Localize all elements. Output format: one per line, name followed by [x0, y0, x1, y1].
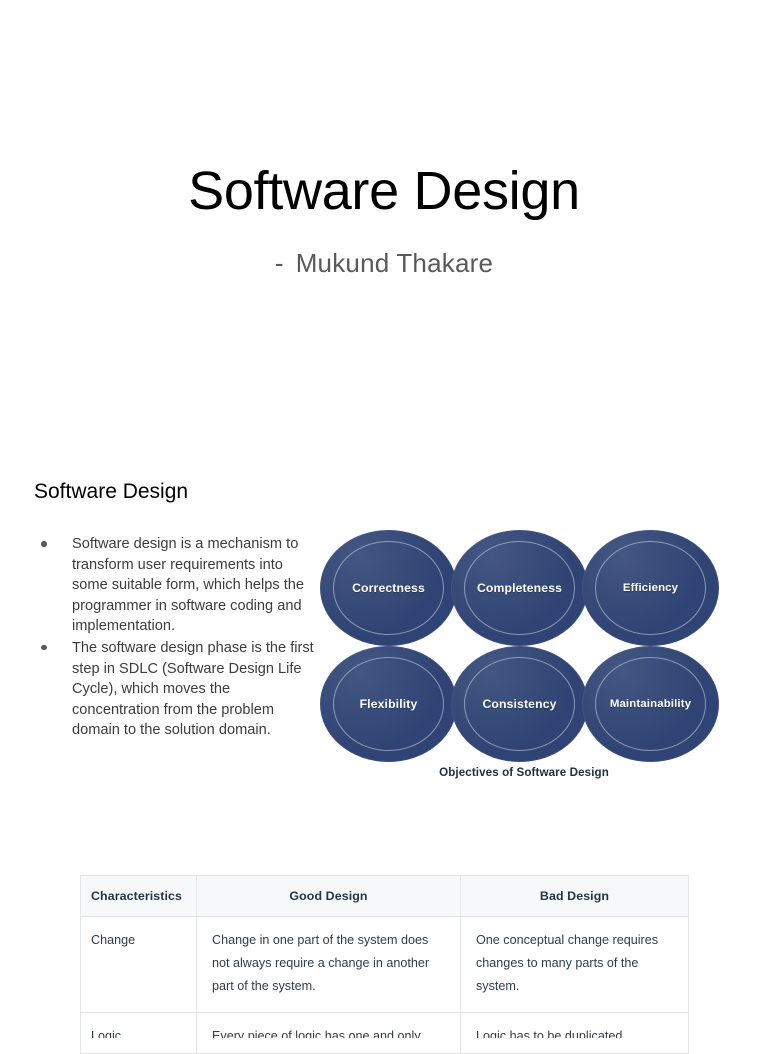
- design-comparison-table: Characteristics Good Design Bad Design C…: [80, 875, 689, 1054]
- column-header-good-design: Good Design: [197, 876, 461, 917]
- list-item-text: The software design phase is the first s…: [72, 640, 314, 738]
- section-heading: Software Design: [34, 478, 188, 506]
- column-header-characteristics: Characteristics: [81, 876, 197, 917]
- oval-label: Flexibility: [355, 697, 423, 711]
- diagram-caption: Objectives of Software Design: [318, 766, 730, 779]
- oval-completeness: Completeness: [451, 530, 588, 646]
- column-header-bad-design: Bad Design: [461, 876, 689, 917]
- cell-bad-design-text: Logic has to be duplicated.: [476, 1025, 672, 1038]
- oval-label: Efficiency: [618, 581, 683, 595]
- oval-correctness: Correctness: [320, 530, 457, 646]
- list-item: Software design is a mechanism to transf…: [34, 534, 314, 637]
- bullet-dot-icon: [41, 645, 47, 651]
- oval-flexibility: Flexibility: [320, 646, 457, 762]
- oval-label: Completeness: [472, 581, 567, 595]
- cell-characteristic: Change: [81, 917, 197, 1013]
- table-row: Logic Every piece of logic has one and o…: [81, 1013, 689, 1054]
- author-name: Mukund Thakare: [296, 248, 493, 278]
- oval-label: Correctness: [347, 581, 430, 595]
- table-row: Change Change in one part of the system …: [81, 917, 689, 1013]
- title-slide: Software Design -Mukund Thakare: [0, 158, 768, 280]
- page-title: Software Design: [0, 158, 768, 224]
- list-item: The software design phase is the first s…: [34, 638, 314, 741]
- oval-label: Consistency: [477, 697, 561, 711]
- cell-bad-design: Logic has to be duplicated.: [461, 1013, 689, 1054]
- table-body: Change Change in one part of the system …: [81, 917, 689, 1054]
- oval-maintainability: Maintainability: [582, 646, 719, 762]
- cell-good-design-text: Every piece of logic has one and only on…: [212, 1025, 444, 1038]
- objectives-diagram: Correctness Completeness Efficiency Flex…: [318, 528, 730, 790]
- cell-good-design: Change in one part of the system does no…: [197, 917, 461, 1013]
- oval-consistency: Consistency: [451, 646, 588, 762]
- cell-good-design: Every piece of logic has one and only on…: [197, 1013, 461, 1054]
- list-item-text: Software design is a mechanism to transf…: [72, 536, 304, 634]
- author-subtitle: -Mukund Thakare: [0, 246, 768, 280]
- table-header-row: Characteristics Good Design Bad Design: [81, 876, 689, 917]
- oval-grid: Correctness Completeness Efficiency Flex…: [318, 528, 730, 758]
- cell-characteristic: Logic: [81, 1013, 197, 1054]
- bullet-dot-icon: [41, 541, 47, 547]
- table-header: Characteristics Good Design Bad Design: [81, 876, 689, 917]
- cell-bad-design: One conceptual change requires changes t…: [461, 917, 689, 1013]
- oval-label: Maintainability: [605, 697, 696, 711]
- oval-efficiency: Efficiency: [582, 530, 719, 646]
- bullet-list: Software design is a mechanism to transf…: [34, 534, 314, 742]
- cell-characteristic-text: Logic: [91, 1025, 182, 1038]
- subtitle-dash: -: [275, 248, 284, 278]
